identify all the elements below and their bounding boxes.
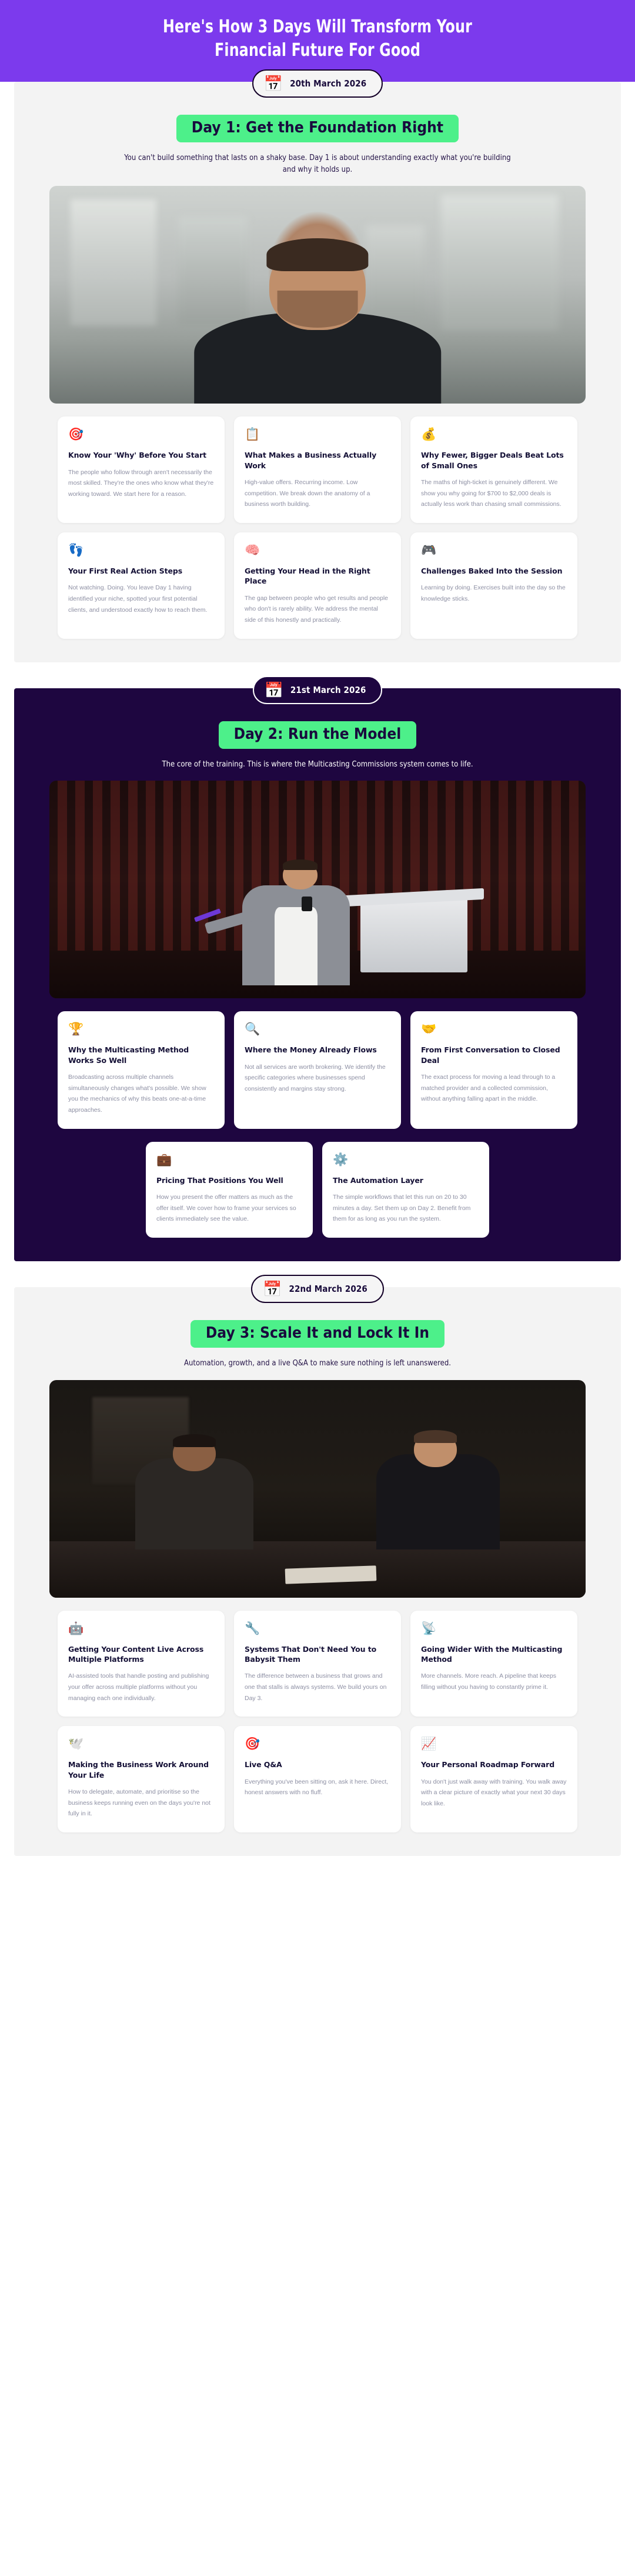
day-3-heading-block: Day 3: Scale It and Lock It In Automatio… bbox=[35, 1307, 600, 1369]
clipboard-icon: 📋 bbox=[245, 428, 390, 441]
card-body: The maths of high-ticket is genuinely di… bbox=[421, 477, 567, 510]
dart-icon: 🎯 bbox=[245, 1738, 390, 1750]
feature-card: 🧠 Getting Your Head in the Right Place T… bbox=[234, 532, 401, 639]
page-title: Here's How 3 Days Will Transform Your Fi… bbox=[69, 15, 566, 62]
lectern bbox=[360, 898, 467, 972]
feature-card: 📋 What Makes a Business Actually Work Hi… bbox=[234, 416, 401, 523]
card-body: AI-assisted tools that handle posting an… bbox=[68, 1671, 214, 1704]
card-title: Going Wider With the Multicasting Method bbox=[421, 1644, 567, 1665]
card-title: Why Fewer, Bigger Deals Beat Lots of Sma… bbox=[421, 450, 567, 471]
card-body: The exact process for moving a lead thro… bbox=[421, 1072, 567, 1105]
day-1-card-grid: 🎯 Know Your 'Why' Before You Start The p… bbox=[35, 416, 600, 638]
chart-increasing-icon: 📈 bbox=[421, 1738, 567, 1750]
day-2-card-grid-row-2: 💼 Pricing That Positions You Well How yo… bbox=[146, 1142, 489, 1238]
feature-card: 🏆 Why the Multicasting Method Works So W… bbox=[58, 1011, 225, 1128]
game-controller-icon: 🎮 bbox=[421, 544, 567, 556]
day-2-heading-block: Day 2: Run the Model The core of the tra… bbox=[35, 708, 600, 771]
person-b-hair bbox=[414, 1430, 457, 1443]
feature-card: 🎯 Know Your 'Why' Before You Start The p… bbox=[58, 416, 225, 523]
day-2-image bbox=[49, 781, 586, 998]
card-body: The people who follow through aren't nec… bbox=[68, 467, 214, 500]
feature-card: 🤖 Getting Your Content Live Across Multi… bbox=[58, 1611, 225, 1717]
card-body: The simple workflows that let this run o… bbox=[333, 1192, 479, 1225]
date-text: 20th March 2026 bbox=[290, 78, 366, 89]
trophy-icon: 🏆 bbox=[68, 1023, 214, 1035]
speaker-shirt bbox=[275, 907, 317, 985]
card-body: More channels. More reach. A pipeline th… bbox=[421, 1671, 567, 1692]
day-3-title-badge: Day 3: Scale It and Lock It In bbox=[190, 1320, 444, 1348]
feature-card: 🎮 Challenges Baked Into the Session Lear… bbox=[410, 532, 577, 639]
day-1-heading-block: Day 1: Get the Foundation Right You can'… bbox=[35, 102, 600, 175]
card-title: Your First Real Action Steps bbox=[68, 566, 214, 576]
day-3-photo bbox=[49, 1380, 586, 1598]
day-2-title-badge: Day 2: Run the Model bbox=[219, 721, 417, 749]
person-b-body bbox=[376, 1454, 500, 1550]
feature-card: 🔍 Where the Money Already Flows Not all … bbox=[234, 1011, 401, 1128]
day-section-1: 📅 20th March 2026 Day 1: Get the Foundat… bbox=[0, 82, 635, 688]
feature-card: 💼 Pricing That Positions You Well How yo… bbox=[146, 1142, 313, 1238]
feature-card: 📈 Your Personal Roadmap Forward You don'… bbox=[410, 1726, 577, 1832]
day-1-title-badge: Day 1: Get the Foundation Right bbox=[176, 115, 459, 142]
dove-icon: 🕊️ bbox=[68, 1738, 214, 1750]
card-title: From First Conversation to Closed Deal bbox=[421, 1045, 567, 1065]
hero-title-line-1: Here's How 3 Days Will Transform Your bbox=[69, 15, 566, 39]
card-title: Your Personal Roadmap Forward bbox=[421, 1759, 567, 1769]
card-body: Learning by doing. Exercises built into … bbox=[421, 582, 567, 604]
dart-icon: 🎯 bbox=[68, 428, 214, 441]
footprints-icon: 👣 bbox=[68, 544, 214, 556]
calendar-icon: 📅 bbox=[265, 682, 283, 698]
day-2-photo bbox=[49, 781, 586, 998]
satellite-antenna-icon: 📡 bbox=[421, 1622, 567, 1635]
date-badge-day-2[interactable]: 📅 21st March 2026 bbox=[253, 676, 383, 704]
card-body: Everything you've been sitting on, ask i… bbox=[245, 1777, 390, 1798]
card-body: How you present the offer matters as muc… bbox=[156, 1192, 302, 1225]
day-3-pill-wrap: 📅 22nd March 2026 bbox=[35, 1287, 600, 1307]
card-title: Challenges Baked Into the Session bbox=[421, 566, 567, 576]
card-body: Broadcasting across multiple channels si… bbox=[68, 1072, 214, 1116]
person-a-body bbox=[135, 1458, 253, 1549]
card-title: Know Your 'Why' Before You Start bbox=[68, 450, 214, 460]
background-building bbox=[366, 225, 425, 321]
date-badge-day-1[interactable]: 📅 20th March 2026 bbox=[252, 69, 383, 98]
card-title: What Makes a Business Actually Work bbox=[245, 450, 390, 471]
briefcase-icon: 💼 bbox=[156, 1154, 302, 1166]
day-1-image bbox=[49, 186, 586, 404]
feature-card: 🎯 Live Q&A Everything you've been sittin… bbox=[234, 1726, 401, 1832]
day-section-2: 📅 21st March 2026 Day 2: Run the Model T… bbox=[0, 688, 635, 1287]
card-body: How to delegate, automate, and prioritis… bbox=[68, 1787, 214, 1819]
day-1-pill-wrap: 📅 20th March 2026 bbox=[35, 82, 600, 102]
card-title: The Automation Layer bbox=[333, 1175, 479, 1185]
background-building bbox=[441, 195, 559, 329]
magnifying-glass-icon: 🔍 bbox=[245, 1023, 390, 1035]
date-text: 21st March 2026 bbox=[290, 685, 366, 695]
gear-icon: ⚙️ bbox=[333, 1154, 479, 1166]
card-title: Making the Business Work Around Your Lif… bbox=[68, 1759, 214, 1780]
speaker-hair bbox=[283, 859, 317, 871]
background-building bbox=[71, 199, 156, 326]
person-hair bbox=[266, 238, 368, 271]
calendar-icon: 📅 bbox=[263, 1281, 282, 1297]
feature-card: 🕊️ Making the Business Work Around Your … bbox=[58, 1726, 225, 1832]
day-3-card-grid: 🤖 Getting Your Content Live Across Multi… bbox=[35, 1611, 600, 1832]
background-building bbox=[178, 216, 248, 325]
feature-card: 🔧 Systems That Don't Need You to Babysit… bbox=[234, 1611, 401, 1717]
card-title: Systems That Don't Need You to Babysit T… bbox=[245, 1644, 390, 1665]
calendar-icon: 📅 bbox=[264, 76, 283, 91]
day-3-band: 📅 22nd March 2026 Day 3: Scale It and Lo… bbox=[14, 1287, 621, 1856]
day-3-image bbox=[49, 1380, 586, 1598]
day-1-band: 📅 20th March 2026 Day 1: Get the Foundat… bbox=[14, 82, 621, 662]
day-2-card-grid-row-1: 🏆 Why the Multicasting Method Works So W… bbox=[35, 1011, 600, 1128]
card-body: The difference between a business that g… bbox=[245, 1671, 390, 1704]
feature-card: 📡 Going Wider With the Multicasting Meth… bbox=[410, 1611, 577, 1717]
day-2-pill-wrap: 📅 21st March 2026 bbox=[35, 688, 600, 708]
feature-card: ⚙️ The Automation Layer The simple workf… bbox=[322, 1142, 489, 1238]
card-body: Not watching. Doing. You leave Day 1 hav… bbox=[68, 582, 214, 615]
card-body: High-value offers. Recurring income. Low… bbox=[245, 477, 390, 510]
hero-title-line-2: Financial Future For Good bbox=[69, 39, 566, 62]
brain-icon: 🧠 bbox=[245, 544, 390, 556]
card-title: Why the Multicasting Method Works So Wel… bbox=[68, 1045, 214, 1065]
handshake-icon: 🤝 bbox=[421, 1023, 567, 1035]
card-body: You don't just walk away with training. … bbox=[421, 1777, 567, 1809]
card-title: Where the Money Already Flows bbox=[245, 1045, 390, 1055]
feature-card: 🤝 From First Conversation to Closed Deal… bbox=[410, 1011, 577, 1128]
feature-card: 👣 Your First Real Action Steps Not watch… bbox=[58, 532, 225, 639]
card-title: Live Q&A bbox=[245, 1759, 390, 1769]
card-title: Getting Your Head in the Right Place bbox=[245, 566, 390, 586]
card-body: Not all services are worth brokering. We… bbox=[245, 1062, 390, 1095]
date-text: 22nd March 2026 bbox=[289, 1284, 367, 1294]
microphone-icon bbox=[302, 897, 312, 912]
day-1-photo bbox=[49, 186, 586, 404]
day-3-subtitle: Automation, growth, and a live Q&A to ma… bbox=[118, 1358, 517, 1369]
card-title: Pricing That Positions You Well bbox=[156, 1175, 302, 1185]
day-2-band: 📅 21st March 2026 Day 2: Run the Model T… bbox=[14, 688, 621, 1261]
feature-card: 💰 Why Fewer, Bigger Deals Beat Lots of S… bbox=[410, 416, 577, 523]
day-section-3: 📅 22nd March 2026 Day 3: Scale It and Lo… bbox=[0, 1287, 635, 1882]
date-badge-day-3[interactable]: 📅 22nd March 2026 bbox=[251, 1275, 384, 1303]
day-2-subtitle: The core of the training. This is where … bbox=[118, 759, 517, 771]
card-title: Getting Your Content Live Across Multipl… bbox=[68, 1644, 214, 1665]
wrench-icon: 🔧 bbox=[245, 1622, 390, 1635]
money-bag-icon: 💰 bbox=[421, 428, 567, 441]
person-beard bbox=[278, 291, 358, 328]
person-a-hair bbox=[173, 1434, 216, 1447]
robot-icon: 🤖 bbox=[68, 1622, 214, 1635]
day-1-subtitle: You can't build something that lasts on … bbox=[118, 152, 517, 175]
card-body: The gap between people who get results a… bbox=[245, 593, 390, 626]
paper-document bbox=[285, 1565, 377, 1584]
